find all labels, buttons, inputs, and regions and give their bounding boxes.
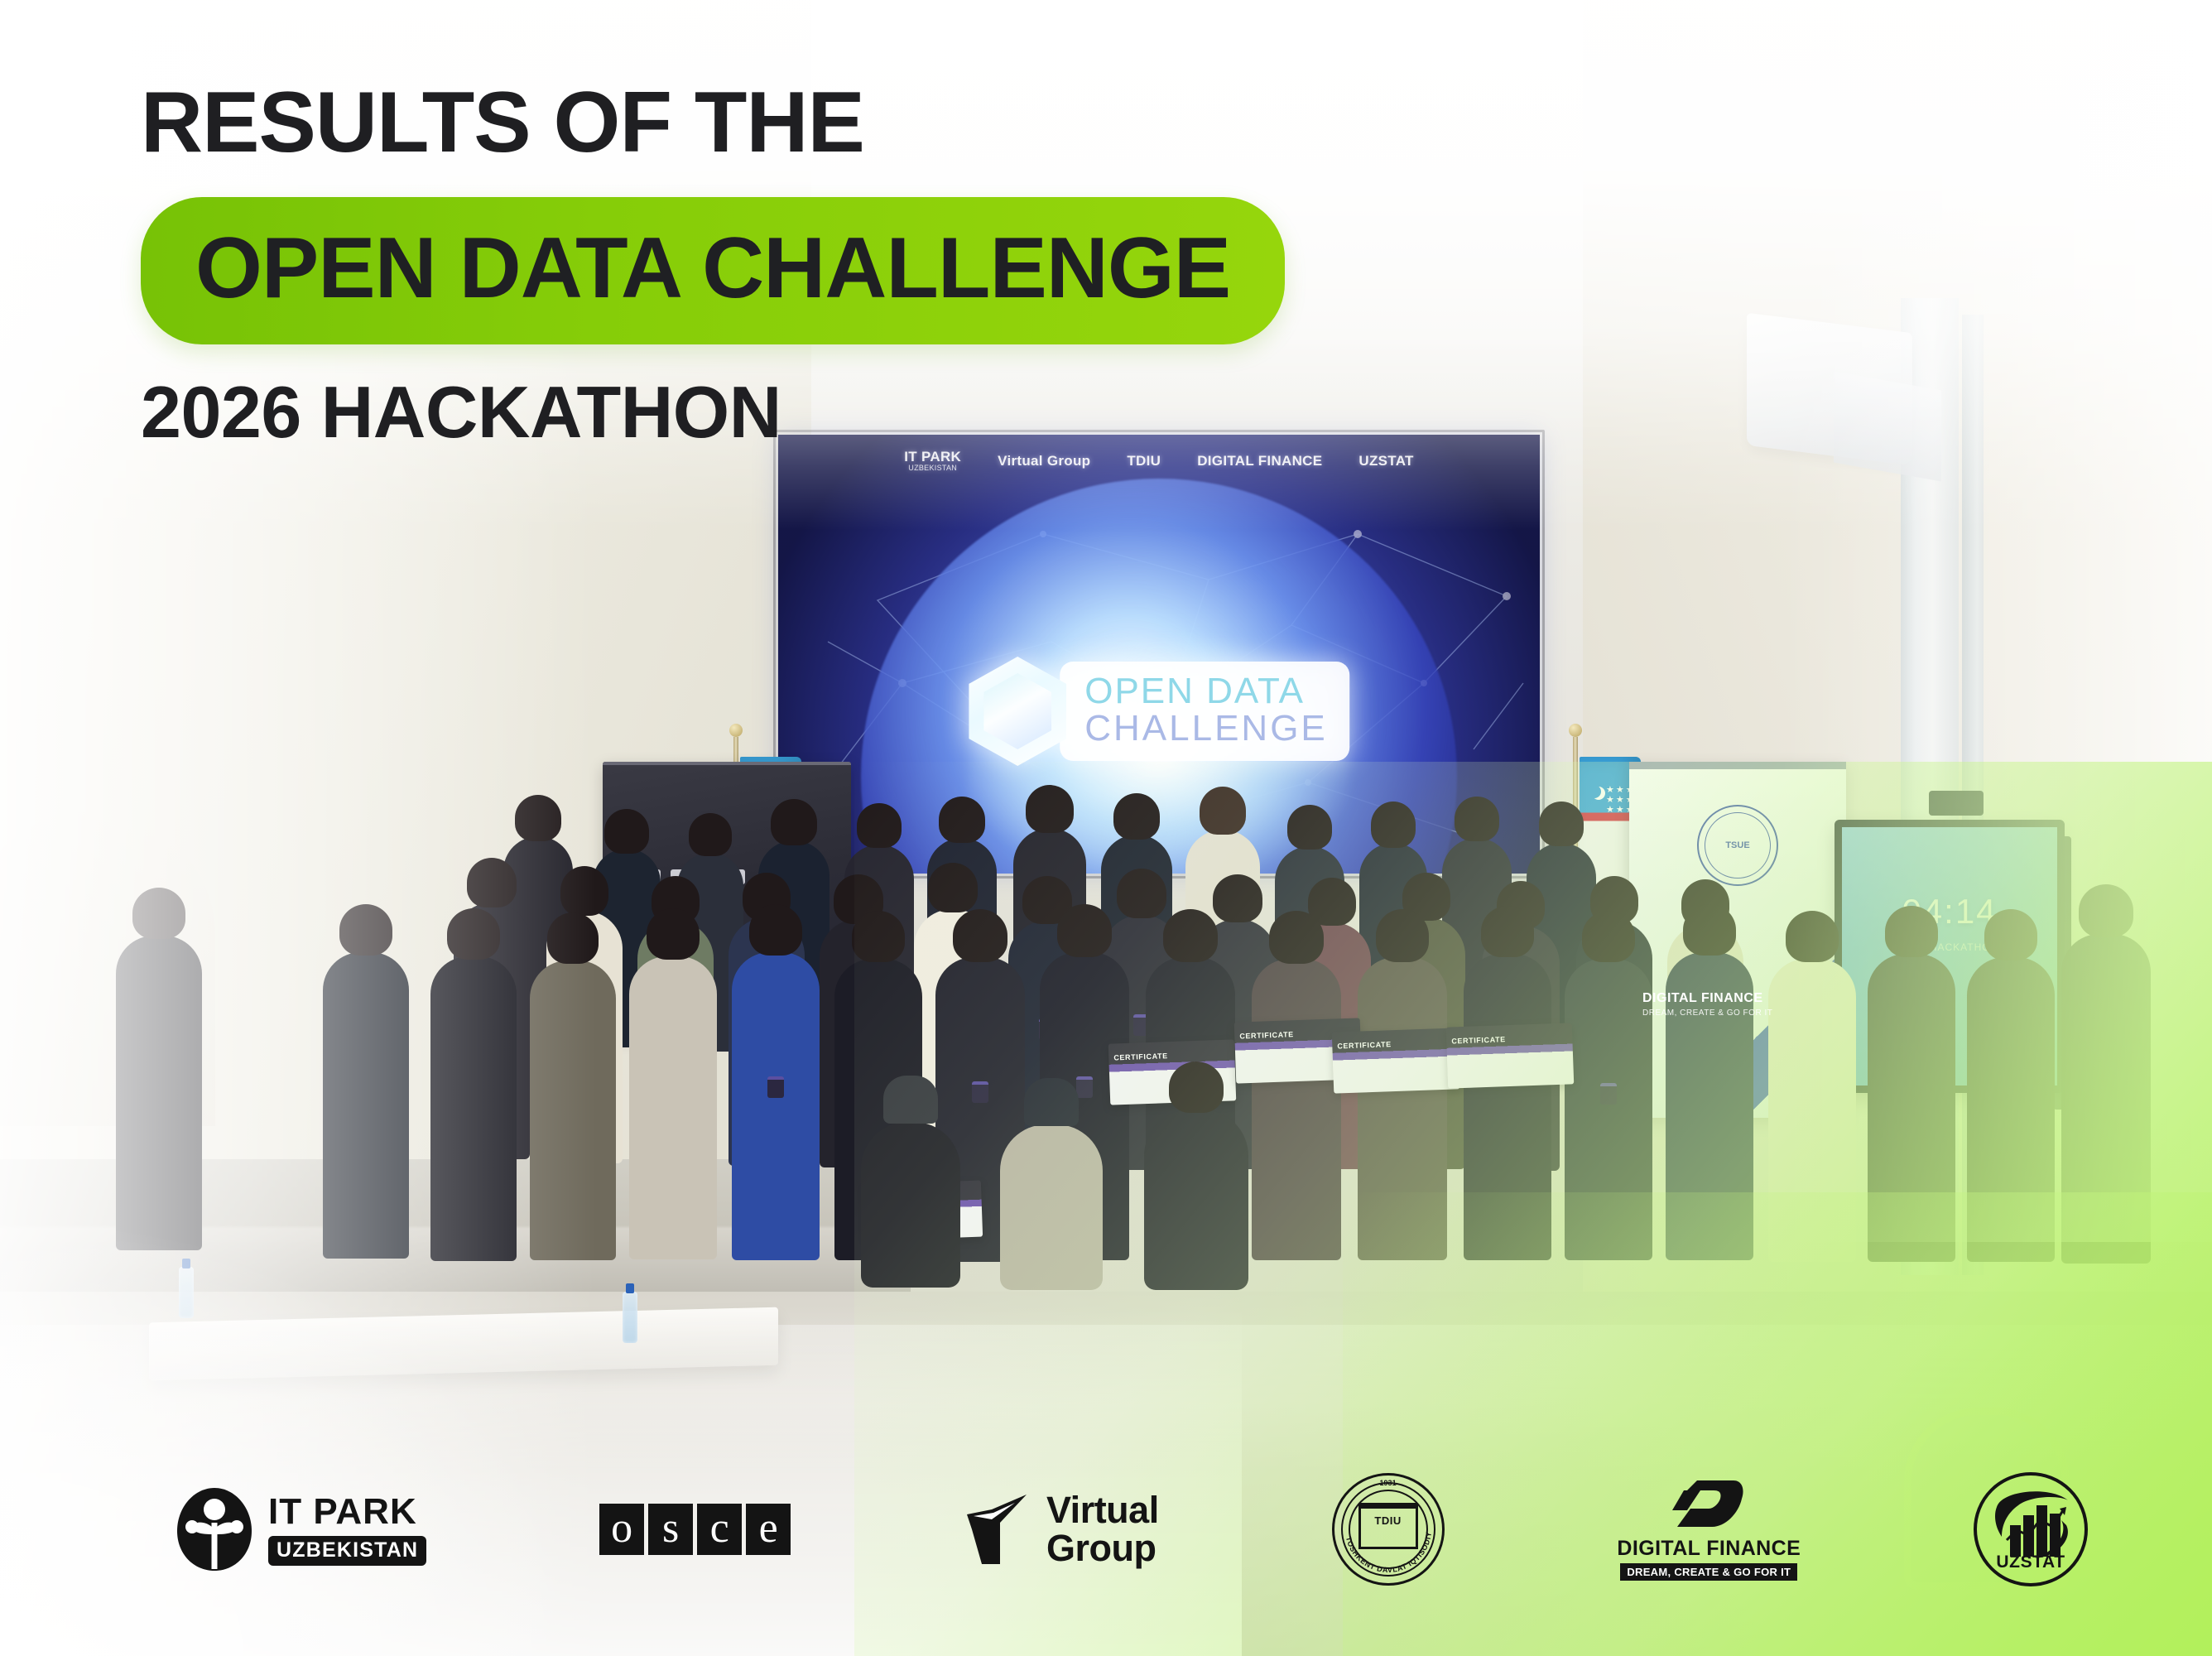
poster-canvas: IT PARK UZBEKISTAN Virtual Group TDIU DI… <box>0 0 2212 1656</box>
person-head <box>467 858 517 907</box>
person-head <box>1163 909 1218 962</box>
person <box>2061 934 2151 1264</box>
banner-line2: DREAM, CREATE & GO FOR IT <box>1642 1008 1772 1018</box>
person-head <box>771 799 817 845</box>
person <box>1768 959 1856 1262</box>
logo-it-park: IT PARK UZBEKISTAN <box>176 1486 426 1572</box>
person <box>1565 959 1652 1260</box>
person-head <box>1582 911 1635 962</box>
person-seated <box>1000 1124 1103 1290</box>
badge-lanyard <box>1600 1083 1617 1105</box>
uzstat-icon: UZSTAT <box>1974 1472 2088 1586</box>
it-park-wordmark: IT PARK UZBEKISTAN <box>268 1494 426 1566</box>
certificate-label: CERTIFICATE <box>1239 1030 1294 1040</box>
tdiu-ring-text: TOSHKENT DAVLAT IQTISODIYOT UNIVERSITETI <box>1332 1473 1445 1586</box>
headline-block: RESULTS OF THE OPEN DATA CHALLENGE 2026 … <box>141 79 1285 449</box>
osce-letter: s <box>648 1504 693 1555</box>
person-head <box>2079 884 2133 937</box>
logo-digital-finance: DIGITAL FINANCE DREAM, CREATE & GO FOR I… <box>1617 1479 1801 1581</box>
person-head <box>1539 802 1584 846</box>
person-head <box>1371 802 1416 848</box>
person <box>323 952 409 1259</box>
digital-finance-d-icon <box>1672 1479 1745 1530</box>
person-head <box>604 809 649 854</box>
person-seated <box>1144 1110 1248 1290</box>
digital-finance-line1: DIGITAL FINANCE <box>1617 1538 1801 1559</box>
uzstat-label: UZSTAT <box>1974 1552 2088 1572</box>
person-head <box>1287 805 1332 850</box>
badge-lanyard <box>1076 1076 1093 1098</box>
logo-uzstat: UZSTAT <box>1974 1472 2088 1586</box>
headline-line-2: OPEN DATA CHALLENGE <box>195 225 1230 311</box>
banner-line1: DIGITAL FINANCE <box>1642 991 1763 1005</box>
person-head <box>339 904 392 956</box>
svg-text:TOSHKENT DAVLAT IQTISODIYOT UN: TOSHKENT DAVLAT IQTISODIYOT UNIVERSITETI <box>1332 1473 1433 1574</box>
person <box>732 952 820 1260</box>
person-head <box>547 912 599 964</box>
person-head <box>1057 904 1112 957</box>
person-head <box>1885 906 1938 957</box>
person <box>1868 954 1955 1262</box>
person <box>116 936 202 1250</box>
person-head <box>1113 793 1160 840</box>
person <box>1358 957 1447 1260</box>
person-head <box>1117 869 1166 918</box>
osce-letter: c <box>697 1504 742 1555</box>
virtual-group-line1: Virtual <box>1046 1491 1159 1529</box>
person-head <box>1269 911 1324 964</box>
person-head <box>689 813 732 856</box>
person <box>629 956 717 1259</box>
virtual-group-wordmark: Virtual Group <box>1046 1491 1159 1567</box>
it-park-figure-icon <box>176 1486 253 1572</box>
person-head <box>928 863 978 912</box>
osce-letter: o <box>599 1504 644 1555</box>
person-head <box>132 888 185 939</box>
person <box>1967 957 2055 1262</box>
headline-line-3: 2026 HACKATHON <box>141 376 1285 449</box>
virtual-group-line2: Group <box>1046 1529 1159 1567</box>
it-park-line1: IT PARK <box>268 1494 426 1530</box>
person-head <box>515 795 561 841</box>
person-seated <box>861 1122 960 1288</box>
osce-letter: e <box>746 1504 791 1555</box>
person <box>430 956 517 1261</box>
person-head <box>1455 797 1499 841</box>
person-head <box>1026 785 1074 833</box>
person <box>1252 959 1341 1260</box>
certificate-card: CERTIFICATE <box>1446 1023 1574 1088</box>
logo-virtual-group: Virtual Group <box>964 1491 1159 1567</box>
certificate-label: CERTIFICATE <box>1451 1035 1506 1045</box>
logo-osce: o s c e <box>599 1504 791 1555</box>
person-head <box>1984 909 2037 960</box>
certificate-card: CERTIFICATE <box>1332 1028 1459 1093</box>
person-head <box>1481 906 1534 957</box>
sponsor-logo-bar: IT PARK UZBEKISTAN o s c e <box>0 1451 2212 1608</box>
headline-line-1: RESULTS OF THE <box>141 79 1285 166</box>
person-head <box>749 904 802 956</box>
person <box>1464 954 1551 1260</box>
person-head <box>1786 911 1839 962</box>
certificate-label: CERTIFICATE <box>1337 1040 1392 1050</box>
person-head <box>1683 904 1736 956</box>
person-head <box>647 908 700 960</box>
person-head <box>560 866 608 916</box>
tdiu-seal-icon: 1931 TDIU TOSHKENT DAVLAT IQTISODIYOT UN… <box>1332 1473 1445 1586</box>
person-head <box>1213 874 1262 922</box>
it-park-line2: UZBEKISTAN <box>268 1536 426 1566</box>
logo-tdiu: 1931 TDIU TOSHKENT DAVLAT IQTISODIYOT UN… <box>1332 1473 1445 1586</box>
virtual-group-check-icon <box>964 1493 1033 1566</box>
certificate-label: CERTIFICATE <box>1113 1052 1168 1061</box>
osce-wordmark: o s c e <box>599 1504 791 1555</box>
person-head <box>857 803 902 848</box>
headline-pill: OPEN DATA CHALLENGE <box>141 197 1285 344</box>
person-head-cap <box>883 1076 938 1124</box>
badge-lanyard <box>767 1076 784 1098</box>
person-head <box>953 909 1007 962</box>
person-head <box>852 911 905 962</box>
person-head <box>1200 787 1246 835</box>
badge-lanyard <box>972 1081 988 1103</box>
digital-finance-line2: DREAM, CREATE & GO FOR IT <box>1620 1563 1797 1581</box>
person-head <box>447 908 500 960</box>
person-head <box>939 797 985 843</box>
banner-text: DIGITAL FINANCE DREAM, CREATE & GO FOR I… <box>1642 990 1772 1018</box>
person-head <box>1169 1061 1224 1113</box>
person-head <box>1376 909 1429 962</box>
person <box>530 960 616 1260</box>
person-head-cap <box>1024 1078 1079 1126</box>
